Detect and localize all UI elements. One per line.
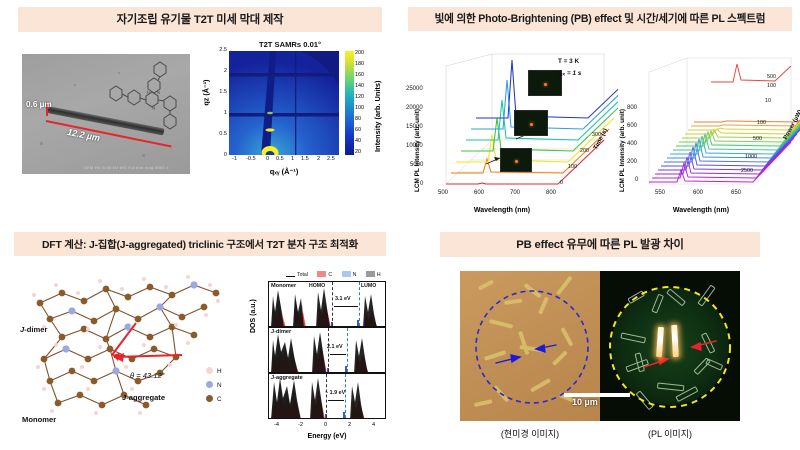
atom-swatch-c — [206, 395, 213, 402]
atom-legend-h: H — [206, 367, 222, 375]
panel-body-bottom-left: J-dimer J-aggregate Monomer θ = 43.12° H… — [0, 257, 400, 450]
panel-title-bottom-left: DFT 계산: J-집합(J-aggregated) triclinic 구조에… — [14, 232, 386, 256]
panel-title-top-right: 빛에 의한 Photo-Brightening (PB) effect 및 시간… — [408, 7, 792, 31]
panel-title-top-left: 자기조립 유기물 T2T 미세 막대 제작 — [18, 7, 382, 32]
scale-bar — [564, 393, 630, 397]
panel-top-right: 빛에 의한 Photo-Brightening (PB) effect 및 시간… — [400, 0, 800, 225]
pl-time-x-label: Wavelength (nm) — [446, 207, 558, 214]
dos-legend-h: H — [366, 272, 385, 278]
dos-chart: Total C N H Monomer HOMO LUMO — [252, 271, 398, 446]
giwaxs-colorbar-label: Intensity (arb. Units) — [373, 81, 382, 152]
panel-top-left: 자기조립 유기물 T2T 미세 막대 제작 0.6 µm 12.2 µm SEM… — [0, 0, 400, 225]
t2t-molecule-structure: N N N — [102, 56, 186, 144]
giwaxs-x-label: qₓᵧ (Å⁻¹) — [229, 167, 339, 176]
dos-panel-monomer: Monomer HOMO LUMO 3.1 eV — [268, 281, 386, 327]
scale-bar-label: 10 µm — [572, 397, 598, 407]
dos-x-label: Energy (eV) — [268, 433, 386, 440]
panel-bottom-left: DFT 계산: J-집합(J-aggregated) triclinic 구조에… — [0, 225, 400, 450]
svg-text:N: N — [147, 90, 150, 95]
atom-swatch-h — [206, 367, 213, 374]
giwaxs-y-ticks: 2.52 1.51 0.50 — [209, 48, 227, 158]
pl-microscope-image — [600, 271, 740, 421]
dos-gap-label-monomer: 3.1 eV — [335, 296, 351, 302]
panel-body-top-left: 0.6 µm 12.2 µm SEM HV 5.00 kV WD 9.8 mm … — [0, 32, 400, 225]
pl-temperature-annotation: T = 3 K — [558, 58, 579, 65]
caption-brightfield: (현미경 이미지) — [460, 427, 600, 440]
pl-inset-image-3 — [528, 70, 562, 96]
dos-gap-arrow-j-aggregate — [328, 400, 344, 401]
pl-power-plot-area — [615, 44, 800, 219]
dos-gap-arrow-monomer — [334, 306, 358, 307]
sem-image: 0.6 µm 12.2 µm SEM HV 5.00 kV WD 9.8 mm … — [22, 54, 190, 174]
giwaxs-chart: T2T SAMRs 0.01° — [205, 40, 391, 190]
dos-gap-arrow-j-dimer — [330, 354, 346, 355]
giwaxs-title: T2T SAMRs 0.01° — [229, 40, 351, 49]
label-monomer: Monomer — [22, 415, 56, 424]
panel-body-bottom-right: 10 µm (현미경 이미지) (PL 이미지) — [400, 257, 800, 450]
atom-swatch-n — [206, 381, 213, 388]
label-j-dimer: J-dimer — [20, 325, 47, 334]
giwaxs-y-label: qᴢ (Å⁻¹) — [202, 79, 211, 105]
dos-gap-label-j-aggregate: ~ 1.9 eV — [325, 390, 345, 396]
pl-time-y-label: LCM PL Intensity (arb. unit) — [414, 109, 421, 192]
sem-footer-text: SEM HV 5.00 kV WD 9.8 mm mag 5000 x — [84, 165, 169, 170]
dos-y-label: DOS (a.u.) — [250, 299, 257, 333]
giwaxs-plot-area — [229, 51, 339, 155]
figure-page: 자기조립 유기물 T2T 미세 막대 제작 0.6 µm 12.2 µm SEM… — [0, 0, 800, 450]
dos-legend: Total C N H — [286, 271, 389, 278]
pl-power-chart: LCM PL Intensity (arb. unit) Wavelength … — [615, 44, 800, 219]
pl-time-chart: T = 3 K tₑₓ = 1 s LCM PL Intensity (arb.… — [408, 44, 618, 219]
pl-power-y-label: LCM PL Intensity (arb. unit) — [619, 109, 626, 192]
dos-legend-n: N — [342, 272, 361, 278]
label-torsion-angle: θ = 43.12° — [130, 371, 165, 380]
dos-gap-label-j-dimer: 2.1 eV — [327, 344, 343, 350]
microscopy-image-pair: 10 µm — [460, 271, 740, 421]
panel-body-top-right: T = 3 K tₑₓ = 1 s LCM PL Intensity (arb.… — [400, 32, 800, 225]
pl-exposure-annotation: tₑₓ = 1 s — [558, 70, 581, 77]
panel-title-bottom-right: PB effect 유무에 따른 PL 발광 차이 — [440, 232, 760, 257]
atom-legend-n: N — [206, 381, 222, 389]
panel-bottom-right: PB effect 유무에 따른 PL 발광 차이 — [400, 225, 800, 450]
dft-molecular-structure: J-dimer J-aggregate Monomer θ = 43.12° H… — [10, 263, 255, 443]
sem-width-label: 0.6 µm — [26, 100, 52, 109]
label-j-aggregate: J-aggregate — [122, 393, 165, 402]
giwaxs-colorbar-ticks: 200180 160140 120100 8060 4020 — [355, 48, 375, 160]
pl-inset-image-2 — [514, 110, 548, 136]
dos-legend-c: C — [317, 272, 336, 278]
pl-inset-image-1 — [500, 148, 532, 172]
dos-legend-total: Total — [286, 272, 312, 278]
dos-panel-j-dimer: J-dimer 2.1 eV — [268, 327, 386, 373]
svg-text:N: N — [152, 106, 155, 111]
atom-legend-c: C — [206, 395, 222, 403]
dos-panel-j-aggregate: J-aggregate ~ 1.9 eV — [268, 373, 386, 419]
giwaxs-colorbar — [345, 51, 354, 155]
pl-power-x-label: Wavelength (nm) — [649, 207, 753, 214]
caption-pl: (PL 이미지) — [600, 427, 740, 440]
